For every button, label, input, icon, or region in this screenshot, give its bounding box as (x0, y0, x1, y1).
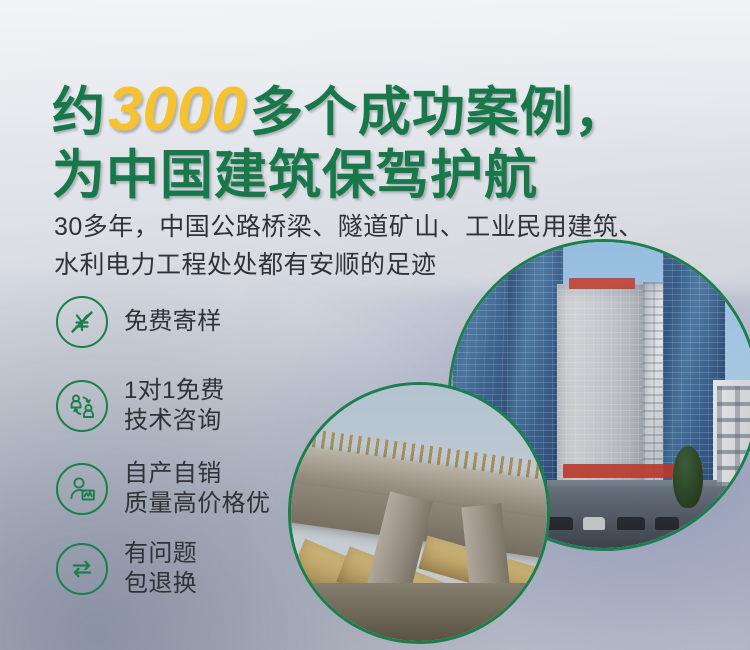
feature-label-line-1: 有问题 (124, 540, 197, 567)
headline-prefix: 约 (52, 83, 106, 142)
feature-item-self-production[interactable]: 自产自销 质量高价格优 (56, 459, 270, 519)
bridge-scene (291, 385, 547, 641)
bridge-shading (291, 385, 547, 641)
subcopy-line-2: 水利电力工程处处都有安顺的足迹 (54, 246, 734, 284)
feature-label-line-1: 自产自销 (124, 460, 222, 487)
feature-label-line-2: 包退换 (124, 569, 197, 599)
person-chart-icon (56, 463, 108, 515)
headline-line-2: 为中国建筑保驾护航 (52, 149, 712, 203)
headline-line-1: 约3000多个成功案例， (52, 78, 712, 141)
feature-label: 1对1免费 技术咨询 (124, 376, 225, 436)
subcopy-line-1: 30多年，中国公路桥梁、隧道矿山、工业民用建筑、 (54, 208, 734, 246)
two-people-exchange-icon (56, 380, 108, 432)
feature-label: 免费寄样 (124, 307, 222, 337)
feature-label-line-1: 免费寄样 (124, 308, 222, 335)
feature-label-line-2: 技术咨询 (124, 406, 225, 436)
feature-label: 有问题 包退换 (124, 539, 197, 599)
feature-label: 自产自销 质量高价格优 (124, 459, 270, 519)
subcopy: 30多年，中国公路桥梁、隧道矿山、工业民用建筑、 水利电力工程处处都有安顺的足迹 (54, 208, 734, 284)
bridge-photo (288, 382, 550, 644)
headline-suffix: 多个成功案例， (250, 83, 628, 142)
feature-item-free-sample[interactable]: 免费寄样 (56, 296, 222, 348)
feature-item-one-on-one[interactable]: 1对1免费 技术咨询 (56, 376, 225, 436)
headline-number: 3000 (106, 75, 250, 144)
promo-banner: 约3000多个成功案例， 为中国建筑保驾护航 30多年，中国公路桥梁、隧道矿山、… (0, 0, 750, 650)
feature-label-line-2: 质量高价格优 (124, 489, 270, 519)
feature-label-line-1: 1对1免费 (124, 377, 225, 404)
no-fee-yuan-icon (56, 296, 108, 348)
headline: 约3000多个成功案例， 为中国建筑保驾护航 (52, 78, 712, 203)
feature-item-return-exchange[interactable]: 有问题 包退换 (56, 539, 197, 599)
return-exchange-arrows-icon (56, 543, 108, 595)
